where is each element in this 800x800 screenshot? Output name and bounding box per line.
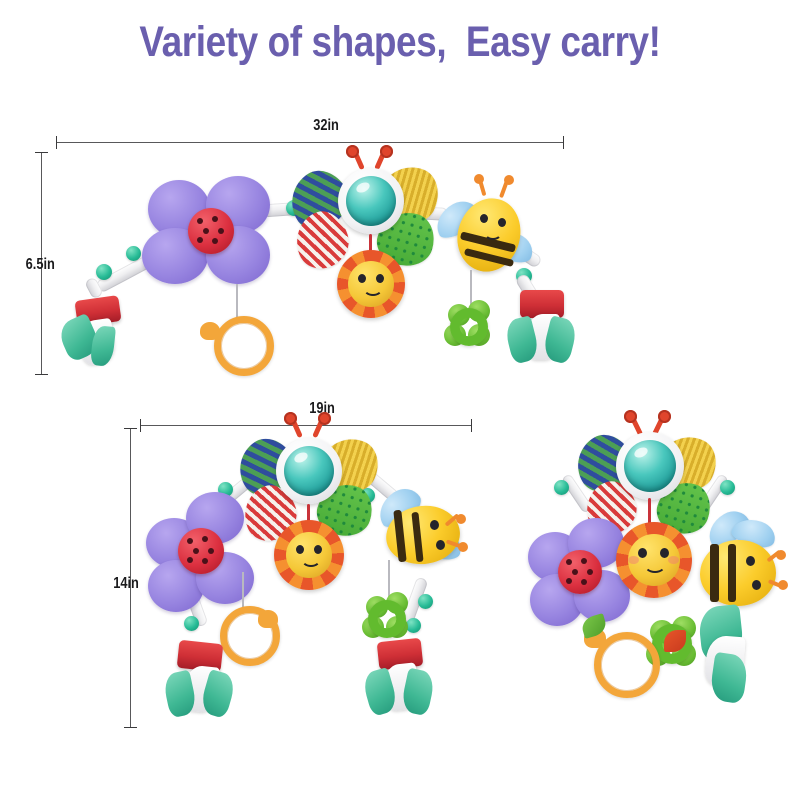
product-arch-compact[interactable] — [148, 430, 488, 730]
ladybug-rattle[interactable] — [558, 550, 602, 594]
product-arch-extended[interactable] — [60, 150, 580, 390]
page-title: Variety of shapes, Easy carry! — [56, 18, 744, 67]
dimension-label-14in: 14in — [113, 575, 139, 593]
infographic-root: Variety of shapes, Easy carry! 32in 6.5i… — [0, 0, 800, 800]
dimension-label-32in: 32in — [313, 117, 339, 135]
product-arch-collapsed[interactable] — [524, 424, 794, 714]
ladybug-rattle[interactable] — [188, 208, 234, 254]
dimension-label-6.5in: 6.5in — [26, 256, 55, 274]
ladybug-rattle[interactable] — [178, 528, 224, 574]
